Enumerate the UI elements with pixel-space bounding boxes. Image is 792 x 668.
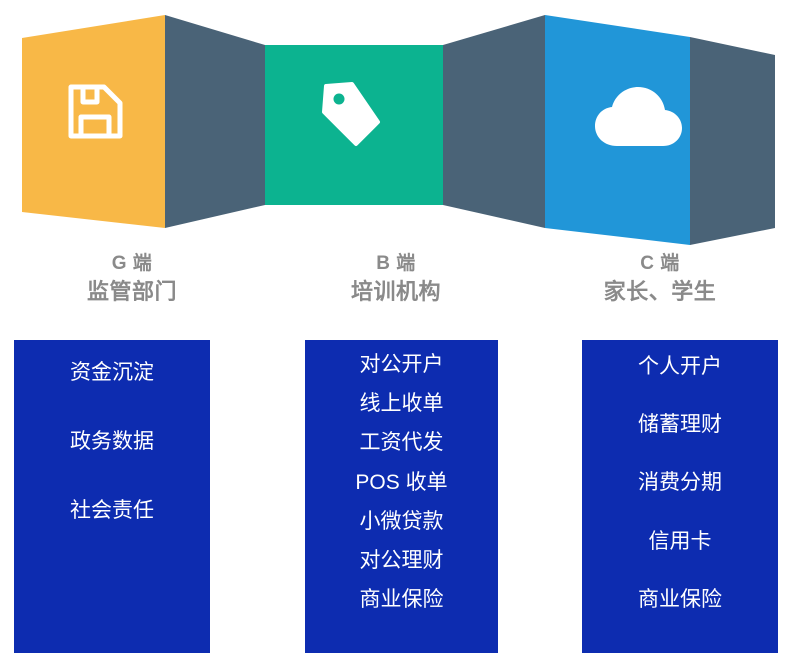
- column-header-g-top: G 端: [0, 252, 264, 276]
- list-item: 信用卡: [649, 529, 712, 554]
- slate-side-2: [443, 15, 545, 228]
- column-header-g: G 端 监管部门: [0, 252, 264, 328]
- service-box-b: 对公开户 线上收单 工资代发 POS 收单 小微贷款 对公理财 商业保险: [305, 340, 498, 653]
- column-header-c: C 端 家长、学生: [528, 252, 792, 328]
- service-box-c: 个人开户 储蓄理财 消费分期 信用卡 商业保险: [582, 340, 778, 653]
- list-item: 消费分期: [638, 470, 722, 495]
- service-box-g: 资金沉淀 政务数据 社会责任: [14, 340, 210, 653]
- infographic-root: G 端 监管部门 B 端 培训机构 C 端 家长、学生 资金沉淀 政务数据 社会…: [0, 0, 792, 668]
- list-item: 对公理财: [360, 548, 444, 573]
- slate-side-3: [690, 37, 775, 245]
- list-item: 政务数据: [70, 429, 154, 454]
- folded-panel-banner: [0, 0, 792, 250]
- list-item: 储蓄理财: [638, 412, 722, 437]
- column-header-c-sub: 家长、学生: [528, 278, 792, 306]
- service-boxes: 资金沉淀 政务数据 社会责任 对公开户 线上收单 工资代发 POS 收单 小微贷…: [0, 340, 792, 654]
- list-item: 工资代发: [360, 430, 444, 455]
- list-item: 个人开户: [638, 354, 722, 379]
- list-item: 社会责任: [70, 498, 154, 523]
- list-item: 小微贷款: [360, 509, 444, 534]
- list-item: 商业保险: [360, 587, 444, 612]
- column-headers: G 端 监管部门 B 端 培训机构 C 端 家长、学生: [0, 252, 792, 328]
- list-item: 商业保险: [638, 587, 722, 612]
- list-item: 资金沉淀: [70, 360, 154, 385]
- list-item: POS 收单: [355, 470, 447, 495]
- column-header-b: B 端 培训机构: [264, 252, 528, 328]
- list-item: 对公开户: [360, 352, 444, 377]
- column-header-b-sub: 培训机构: [264, 278, 528, 306]
- column-header-c-top: C 端: [528, 252, 792, 276]
- g-panel-face: [22, 15, 165, 228]
- slate-side-1: [165, 15, 265, 228]
- list-item: 线上收单: [360, 391, 444, 416]
- column-header-b-top: B 端: [264, 252, 528, 276]
- column-header-g-sub: 监管部门: [0, 278, 264, 306]
